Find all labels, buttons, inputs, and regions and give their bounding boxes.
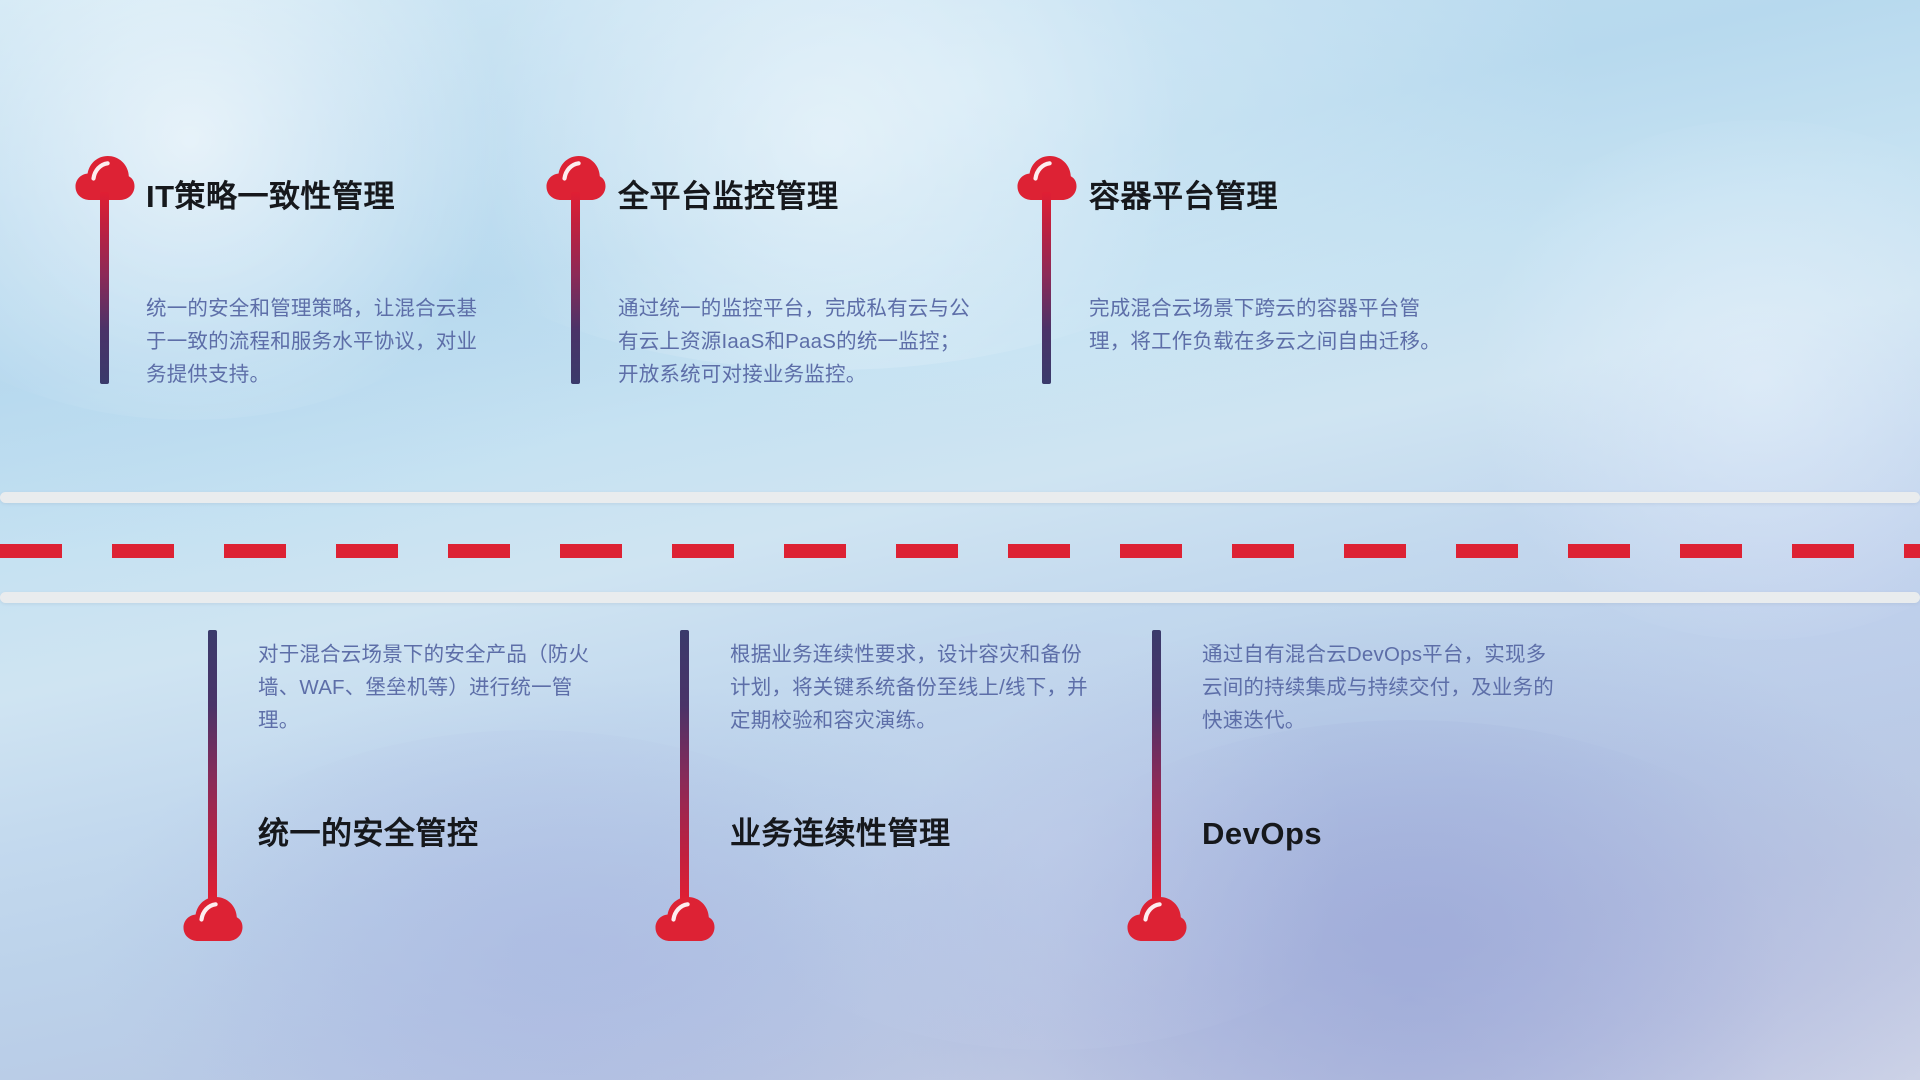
connector-stem <box>1152 630 1161 900</box>
cloud-icon <box>1126 895 1188 943</box>
road-edge-bottom <box>0 592 1920 603</box>
node-description: 完成混合云场景下跨云的容器平台管理，将工作负载在多云之间自由迁移。 <box>1089 292 1449 358</box>
node-description: 根据业务连续性要求，设计容灾和备份计划，将关键系统备份至线上/线下，并定期校验和… <box>730 638 1090 738</box>
road-edge-top <box>0 492 1920 503</box>
road-center-dashes <box>0 544 1920 558</box>
node-title: IT策略一致性管理 <box>146 178 395 215</box>
node-title: 业务连续性管理 <box>730 815 951 852</box>
connector-stem <box>571 192 580 384</box>
node-title: 统一的安全管控 <box>258 815 479 852</box>
connector-stem <box>1042 192 1051 384</box>
node-description: 对于混合云场景下的安全产品（防火墙、WAF、堡垒机等）进行统一管理。 <box>258 638 603 738</box>
node-title: DevOps <box>1202 815 1322 852</box>
cloud-icon <box>654 895 716 943</box>
node-description: 通过自有混合云DevOps平台，实现多云间的持续集成与持续交付，及业务的快速迭代… <box>1202 638 1562 738</box>
connector-stem <box>100 192 109 384</box>
connector-stem <box>680 630 689 900</box>
cloud-icon <box>182 895 244 943</box>
node-title: 容器平台管理 <box>1089 178 1278 215</box>
node-description: 通过统一的监控平台，完成私有云与公有云上资源IaaS和PaaS的统一监控；开放系… <box>618 292 978 392</box>
background-bloom <box>1450 120 1920 640</box>
node-title: 全平台监控管理 <box>618 178 839 215</box>
background-bloom <box>960 720 1860 1080</box>
infographic-canvas: IT策略一致性管理 统一的安全和管理策略，让混合云基于一致的流程和服务水平协议，… <box>0 0 1920 1080</box>
connector-stem <box>208 630 217 900</box>
node-description: 统一的安全和管理策略，让混合云基于一致的流程和服务水平协议，对业务提供支持。 <box>146 292 491 392</box>
